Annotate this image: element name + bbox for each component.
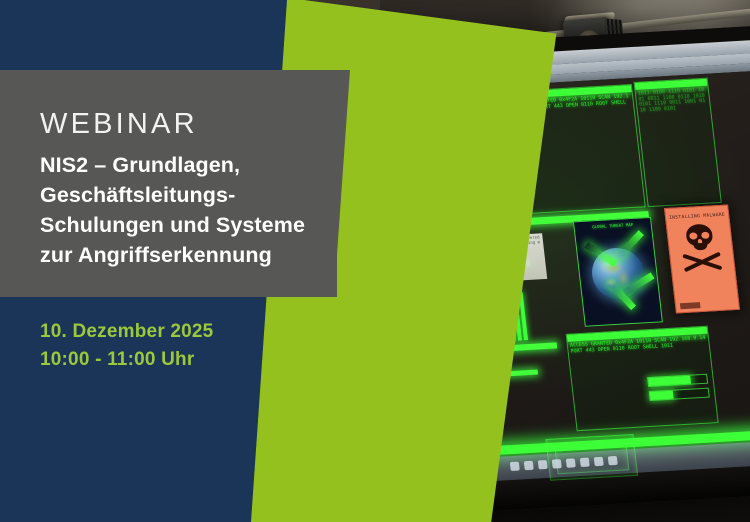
page-title: NIS2 – Grundlagen, Geschäftsleitungs- Sc… [40,150,340,270]
event-time: 10:00 - 11:00 Uhr [40,346,213,374]
taskbar-icon[interactable] [552,459,562,468]
taskbar-icon[interactable] [594,457,604,466]
headline-line: Schulungen und Systeme [40,210,340,240]
malware-alert-title: INSTALLING MALWARE [665,206,729,224]
headline-line: NIS2 – Grundlagen, [40,150,340,180]
event-datetime: 10. Dezember 2025 10:00 - 11:00 Uhr [40,318,213,374]
event-date: 10. Dezember 2025 [40,318,213,346]
taskbar-icon[interactable] [538,460,548,469]
terminal-text: 1011 0100 1110 0101 1001 0011 1100 0110 … [635,86,710,116]
malware-alert-dialog[interactable]: INSTALLING MALWARE [664,204,740,313]
taskbar-icon[interactable] [524,461,534,470]
taskbar-icon[interactable] [566,458,576,467]
headline-line: Geschäftsleitungs- [40,180,340,210]
taskbar-icon[interactable] [608,456,618,465]
taskbar-icon[interactable] [580,458,590,467]
webinar-banner: File Edit View Search Terminal Help 0110… [0,0,750,522]
terminal-window: 1011 0100 1110 0101 1001 0011 1100 0110 … [634,78,722,207]
threat-map-panel: GLOBAL THREAT MAP [573,217,663,327]
taskbar-icon[interactable] [510,462,520,471]
skull-jaw [693,243,708,251]
eyebrow-label: WEBINAR [40,108,198,141]
crossbones [682,254,724,270]
headline-line: zur Angriffserkennung [40,240,340,270]
threat-map-title: GLOBAL THREAT MAP [574,218,651,230]
skull-and-crossbones-icon [681,223,718,255]
malware-alert-button[interactable] [680,302,701,309]
